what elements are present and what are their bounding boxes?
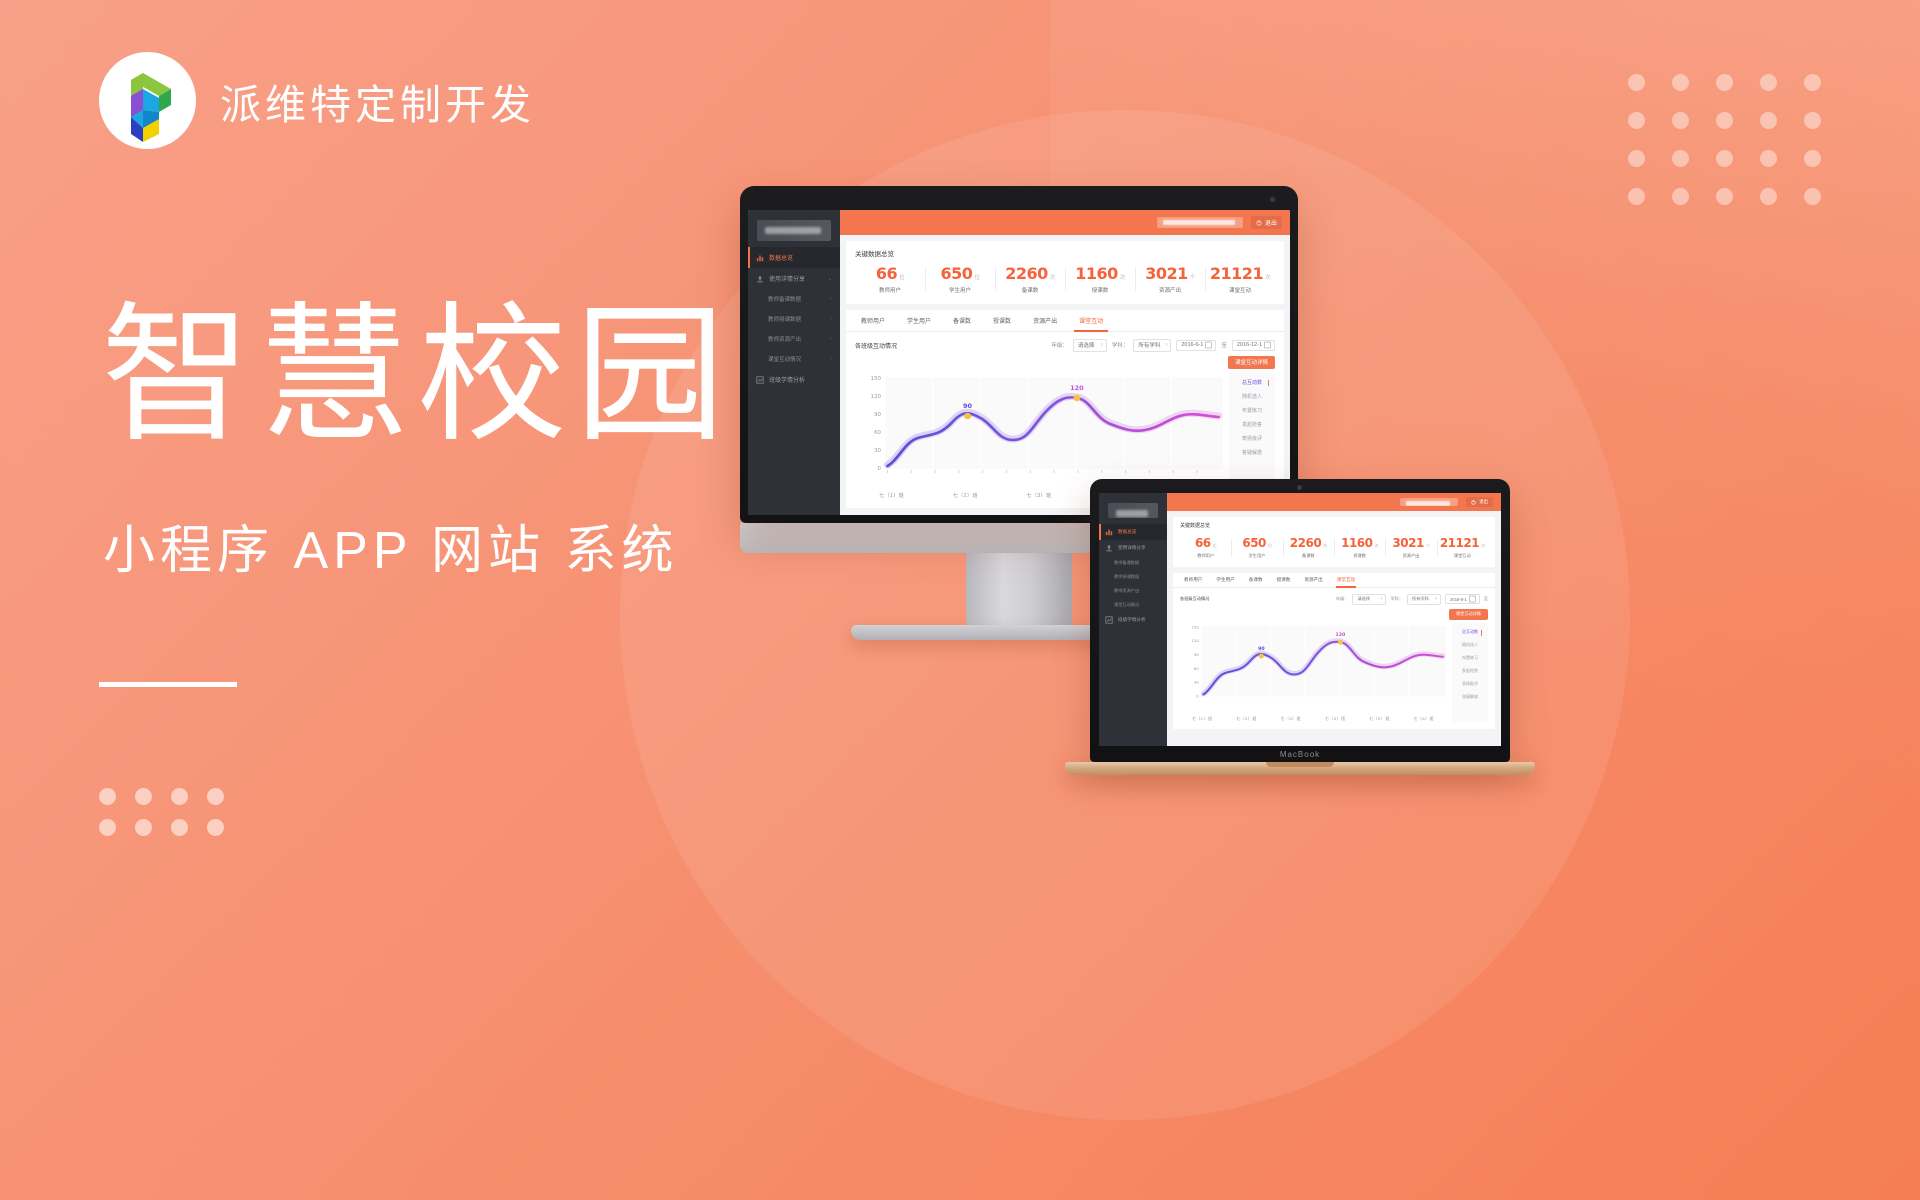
dashboard-main: 退出 关键数据总览 66位 教师用户 650位 — [1167, 493, 1501, 746]
chart-icon — [1105, 528, 1113, 536]
svg-text:90: 90 — [1194, 652, 1200, 657]
tab-student-users[interactable]: 学生用户 — [896, 310, 942, 331]
interaction-line-chart: 150 120 90 60 30 0 — [1180, 623, 1446, 722]
device-mockups: 数据总览 使用详情分享 ⌄ 教师备课数据 › — [0, 0, 1920, 1200]
macbook-mockup: 数据总览 使用详情分享 教师备课数据 — [1090, 479, 1510, 775]
svg-text:90: 90 — [874, 412, 881, 418]
sidebar-item-class-analysis[interactable]: 班级学情分析 — [1099, 612, 1167, 628]
kpi-value: 1160 — [1341, 536, 1372, 550]
power-icon — [1256, 220, 1262, 226]
sidebar-item-label: 数据总览 — [769, 253, 793, 262]
x-tick: 七（1）班 — [1180, 716, 1224, 722]
sidebar-logo — [1108, 503, 1158, 518]
kpi-lesson-count: 1160次 授课数 — [1065, 264, 1135, 295]
dashboard-main: 退出 关键数据总览 66位 教师用户 650位 — [840, 210, 1290, 515]
legend-item-praise-critique[interactable]: 表扬批评 — [1456, 681, 1484, 687]
kpi-value: 1160 — [1075, 264, 1118, 283]
grade-select[interactable]: 请选择 — [1352, 594, 1386, 605]
kpi-value: 650 — [1242, 536, 1266, 550]
kpi-resource-output: 3021个 资源产出 — [1385, 535, 1436, 560]
kpi-value: 21121 — [1440, 536, 1479, 550]
kpi-value: 66 — [1195, 536, 1211, 550]
kpi-teacher-users: 66位 教师用户 — [1180, 535, 1231, 560]
legend-item-total[interactable]: 总互动数 — [1456, 629, 1484, 635]
legend-item-qa[interactable]: 答疑解惑 — [1233, 449, 1271, 456]
grade-label: 年级： — [1336, 596, 1349, 602]
macbook-bezel: 数据总览 使用详情分享 教师备课数据 — [1090, 479, 1510, 762]
tab-prep-count[interactable]: 备课数 — [942, 310, 982, 331]
filter-bar: 各班级互动情况 年级： 请选择 学科： 所有学科 2016-6-1 至 2016… — [855, 339, 1275, 352]
kpi-value: 21121 — [1210, 264, 1263, 283]
date-from-input[interactable]: 2016-6-1 — [1445, 594, 1480, 604]
kpi-unit: 位 — [899, 275, 904, 281]
kpi-unit: 位 — [974, 275, 979, 281]
tab-bar: 教师用户 学生用户 备课数 授课数 资源产出 课堂互动 — [846, 310, 1284, 332]
svg-text:0: 0 — [1196, 693, 1199, 698]
kpi-label: 学生用户 — [1231, 553, 1282, 559]
subject-label: 学科： — [1112, 341, 1129, 349]
overview-card: 关键数据总览 66位 教师用户 650位 学生用户 — [1173, 517, 1495, 567]
logout-button[interactable]: 退出 — [1466, 497, 1493, 507]
legend-item-praise-critique[interactable]: 表扬批评 — [1233, 435, 1271, 442]
x-tick: 七（2）班 — [929, 492, 1003, 499]
svg-text:60: 60 — [874, 430, 881, 436]
svg-text:0: 0 — [878, 466, 881, 472]
sidebar-item-label: 教师资源产出 — [768, 335, 801, 343]
date-separator: 至 — [1484, 596, 1488, 602]
imac-bezel: 数据总览 使用详情分享 ⌄ 教师备课数据 › — [740, 186, 1298, 523]
tab-teacher-users[interactable]: 教师用户 — [850, 310, 896, 331]
tab-student-users[interactable]: 学生用户 — [1209, 573, 1241, 587]
tab-teacher-users[interactable]: 教师用户 — [1177, 573, 1209, 587]
kpi-unit: 位 — [1213, 543, 1217, 548]
kpi-value: 3021 — [1392, 536, 1423, 550]
logout-label: 退出 — [1265, 218, 1277, 227]
grade-select[interactable]: 请选择 — [1073, 339, 1107, 352]
overview-title: 关键数据总览 — [855, 248, 1275, 258]
imac-screen: 数据总览 使用详情分享 ⌄ 教师备课数据 › — [748, 210, 1290, 515]
kpi-class-interaction: 21121次 课堂互动 — [1205, 264, 1275, 295]
section-title: 各班级互动情况 — [1180, 596, 1209, 602]
kpi-value: 66 — [876, 264, 897, 283]
sidebar-item-prep-data[interactable]: 教师备课数据 › — [748, 289, 840, 309]
tab-resource-output[interactable]: 资源产出 — [1022, 310, 1068, 331]
tab-class-interaction[interactable]: 课堂互动 — [1068, 310, 1114, 331]
sidebar-item-class-interaction[interactable]: 课堂互动情况 › — [748, 349, 840, 369]
svg-text:120: 120 — [1191, 638, 1199, 643]
kpi-class-interaction: 21121次 课堂互动 — [1437, 535, 1488, 560]
dashboard-desktop: 数据总览 使用详情分享 ⌄ 教师备课数据 › — [748, 210, 1290, 515]
sidebar-item-label: 班级学情分析 — [1118, 617, 1146, 623]
logout-button[interactable]: 退出 — [1251, 216, 1282, 229]
share-icon — [1105, 544, 1113, 552]
x-tick: 七（5）班 — [1357, 716, 1401, 722]
sidebar-item-label: 使用详情分享 — [1118, 545, 1146, 551]
svg-text:120: 120 — [1070, 385, 1084, 392]
kpi-label: 学生用户 — [925, 286, 995, 294]
subject-select[interactable]: 所有学科 — [1407, 594, 1441, 605]
analysis-icon — [756, 376, 764, 384]
macbook-notch — [1266, 762, 1334, 767]
kpi-unit: 次 — [1050, 275, 1055, 281]
legend-item-assign-practice[interactable]: 布置练习 — [1456, 655, 1484, 661]
kpi-label: 资源产出 — [1135, 286, 1205, 294]
svg-text:150: 150 — [871, 376, 881, 382]
sidebar-item-teaching-data[interactable]: 教师授课数据 › — [748, 309, 840, 329]
dashboard-laptop: 数据总览 使用详情分享 教师备课数据 — [1099, 493, 1501, 746]
sidebar-item-prep-data[interactable]: 教师备课数据 — [1099, 556, 1167, 570]
svg-text:120: 120 — [1335, 632, 1345, 638]
sidebar-item-overview[interactable]: 数据总览 — [1099, 524, 1167, 540]
overview-card: 关键数据总览 66位 教师用户 650位 学生用户 — [846, 241, 1284, 304]
kpi-label: 课堂互动 — [1437, 553, 1488, 559]
kpi-unit: 次 — [1481, 543, 1485, 548]
sidebar-item-label: 教师授课数据 — [1114, 574, 1139, 580]
kpi-label: 授课数 — [1065, 286, 1135, 294]
tab-bar: 教师用户 学生用户 备课数 授课数 资源产出 课堂互动 — [1173, 573, 1495, 588]
kpi-value: 2260 — [1005, 264, 1048, 283]
x-axis-labels: 七（1）班 七（2）班 七（3）班 七（4）班 七（5）班 七（6）班 — [1180, 716, 1446, 722]
legend-item-quick-answer[interactable]: 发起抢答 — [1456, 668, 1484, 674]
kpi-resource-output: 3021个 资源产出 — [1135, 264, 1205, 295]
x-tick: 七（1）班 — [855, 492, 929, 499]
sidebar-item-label: 课堂互动情况 — [768, 355, 801, 363]
sidebar-item-label: 教师资源产出 — [1114, 588, 1139, 594]
sidebar-item-label: 教师授课数据 — [768, 315, 801, 323]
chevron-right-icon: › — [830, 336, 832, 342]
x-tick: 七（3）班 — [1269, 716, 1313, 722]
kpi-student-users: 650位 学生用户 — [1231, 535, 1282, 560]
kpi-label: 资源产出 — [1385, 553, 1436, 559]
sidebar-item-class-analysis[interactable]: 班级学情分析 — [748, 369, 840, 390]
sidebar-item-teaching-data[interactable]: 教师授课数据 — [1099, 570, 1167, 584]
logout-label: 退出 — [1479, 499, 1488, 505]
kpi-unit: 个 — [1190, 275, 1195, 281]
sidebar-item-share[interactable]: 使用详情分享 — [1099, 540, 1167, 556]
chevron-down-icon: ⌄ — [828, 276, 832, 282]
x-tick: 七（3）班 — [1002, 492, 1076, 499]
sidebar-item-resource-output[interactable]: 教师资源产出 › — [748, 329, 840, 349]
dashboard-sidebar: 数据总览 使用详情分享 ⌄ 教师备课数据 › — [748, 210, 840, 515]
subject-label: 学科： — [1390, 596, 1403, 602]
kpi-prep-count: 2260次 备课数 — [1283, 535, 1334, 560]
kpi-unit: 次 — [1375, 543, 1379, 548]
sidebar-item-label: 课堂互动情况 — [1114, 602, 1139, 608]
power-icon — [1471, 500, 1476, 505]
legend-item-total[interactable]: 总互动数 — [1233, 379, 1271, 386]
kpi-label: 教师用户 — [1180, 553, 1231, 559]
sidebar-item-resource-output[interactable]: 教师资源产出 — [1099, 584, 1167, 598]
tab-lesson-count[interactable]: 授课数 — [982, 310, 1022, 331]
sidebar-item-label: 班级学情分析 — [769, 375, 805, 384]
macbook-brand-label: MacBook — [1090, 750, 1510, 759]
kpi-value: 650 — [941, 264, 973, 283]
kpi-unit: 次 — [1265, 275, 1270, 281]
chevron-right-icon: › — [830, 296, 832, 302]
kpi-unit: 位 — [1268, 543, 1272, 548]
sidebar-item-class-interaction[interactable]: 课堂互动情况 — [1099, 598, 1167, 612]
sidebar-item-overview[interactable]: 数据总览 — [748, 247, 840, 268]
kpi-value: 3021 — [1145, 264, 1188, 283]
analysis-icon — [1105, 616, 1113, 624]
search-input[interactable] — [1157, 217, 1243, 228]
imac-stand-neck — [966, 553, 1072, 625]
kpi-row: 66位 教师用户 650位 学生用户 2260次 备课数 — [1180, 535, 1488, 560]
svg-text:150: 150 — [1191, 624, 1199, 629]
kpi-label: 授课数 — [1334, 553, 1385, 559]
chart-area: 150 120 90 60 30 0 — [1180, 623, 1488, 722]
svg-text:30: 30 — [874, 448, 881, 454]
subject-select[interactable]: 所有学科 — [1133, 339, 1171, 352]
chevron-right-icon: › — [830, 356, 832, 362]
kpi-label: 备课数 — [995, 286, 1065, 294]
sidebar-logo — [757, 220, 831, 241]
chevron-right-icon: › — [830, 316, 832, 322]
kpi-label: 课堂互动 — [1205, 286, 1275, 294]
kpi-unit: 个 — [1426, 543, 1430, 548]
kpi-label: 备课数 — [1283, 553, 1334, 559]
dashboard-topbar: 退出 — [1167, 493, 1501, 511]
date-to-input[interactable]: 2016-12-1 — [1232, 340, 1275, 351]
overview-title: 关键数据总览 — [1180, 522, 1488, 529]
svg-text:60: 60 — [1194, 665, 1200, 670]
date-from-input[interactable]: 2016-6-1 — [1176, 340, 1216, 351]
grade-label: 年级： — [1051, 341, 1068, 349]
tab-lesson-count[interactable]: 授课数 — [1270, 573, 1298, 587]
x-tick: 七（6）班 — [1402, 716, 1446, 722]
date-separator: 至 — [1221, 341, 1227, 349]
legend-item-random-pick[interactable]: 随机选人 — [1233, 393, 1271, 400]
legend-item-assign-practice[interactable]: 布置练习 — [1233, 407, 1271, 414]
kpi-teacher-users: 66位 教师用户 — [855, 264, 925, 295]
kpi-value: 2260 — [1290, 536, 1321, 550]
kpi-lesson-count: 1160次 授课数 — [1334, 535, 1385, 560]
sidebar-item-label: 数据总览 — [1118, 529, 1136, 535]
svg-text:30: 30 — [1194, 679, 1200, 684]
section-title: 各班级互动情况 — [855, 341, 897, 350]
kpi-student-users: 650位 学生用户 — [925, 264, 995, 295]
dashboard-sidebar: 数据总览 使用详情分享 教师备课数据 — [1099, 493, 1167, 746]
legend-item-random-pick[interactable]: 随机选人 — [1456, 642, 1484, 648]
svg-text:90: 90 — [1258, 646, 1265, 652]
camera-icon — [1269, 196, 1276, 203]
sidebar-item-share[interactable]: 使用详情分享 ⌄ — [748, 268, 840, 289]
sidebar-item-label: 教师备课数据 — [768, 295, 801, 303]
filter-bar: 各班级互动情况 年级： 请选择 学科： 所有学科 2016-6-1 至 — [1180, 594, 1488, 605]
tab-class-interaction[interactable]: 课堂互动 — [1330, 573, 1362, 587]
export-button[interactable]: 课堂互动详情 — [1449, 609, 1488, 620]
chart-icon — [756, 254, 764, 262]
sidebar-item-label: 教师备课数据 — [1114, 560, 1139, 566]
tab-resource-output[interactable]: 资源产出 — [1297, 573, 1329, 587]
kpi-row: 66位 教师用户 650位 学生用户 2260次 备课数 — [855, 264, 1275, 295]
legend-item-quick-answer[interactable]: 发起抢答 — [1233, 421, 1271, 428]
svg-text:120: 120 — [871, 394, 881, 400]
x-tick: 七（4）班 — [1313, 716, 1357, 722]
tab-prep-count[interactable]: 备课数 — [1242, 573, 1270, 587]
kpi-unit: 次 — [1120, 275, 1125, 281]
share-icon — [756, 275, 764, 283]
kpi-prep-count: 2260次 备课数 — [995, 264, 1065, 295]
x-tick: 七（2）班 — [1224, 716, 1268, 722]
sidebar-item-label: 使用详情分享 — [769, 274, 805, 283]
macbook-base — [1065, 762, 1535, 775]
kpi-unit: 次 — [1323, 543, 1327, 548]
legend-item-qa[interactable]: 答疑解惑 — [1456, 694, 1484, 700]
export-button[interactable]: 课堂互动详情 — [1228, 356, 1275, 369]
svg-text:90: 90 — [963, 403, 973, 410]
camera-icon — [1297, 485, 1302, 490]
kpi-label: 教师用户 — [855, 286, 925, 294]
macbook-screen: 数据总览 使用详情分享 教师备课数据 — [1099, 493, 1501, 746]
chart-legend: 总互动数 随机选人 布置练习 发起抢答 表扬批评 答疑解惑 — [1452, 623, 1488, 722]
search-input[interactable] — [1400, 498, 1458, 506]
dashboard-topbar: 退出 — [840, 210, 1290, 235]
